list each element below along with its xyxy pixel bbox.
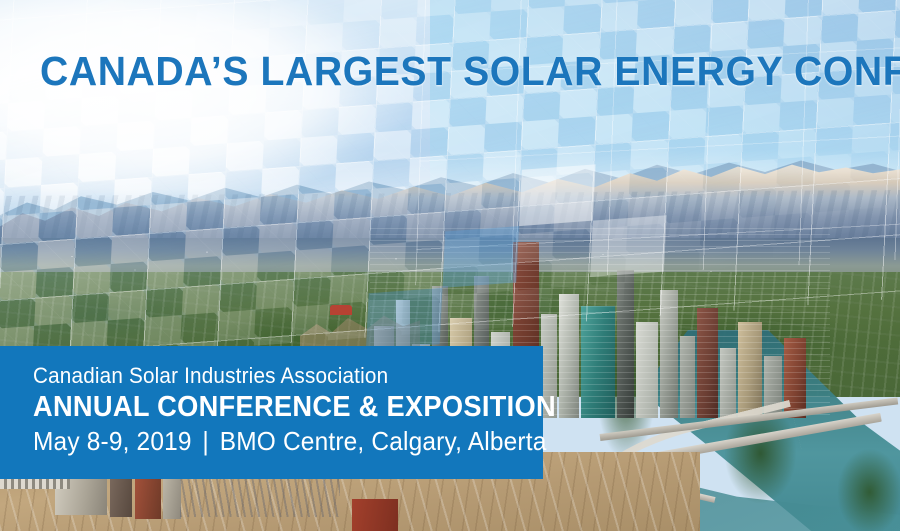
event-venue: BMO Centre, Calgary, Alberta bbox=[220, 426, 547, 456]
solar-panel-highlight-cell bbox=[590, 215, 667, 277]
page-title: CANADA’S LARGEST SOLAR ENERGY CONFERENCE bbox=[40, 48, 833, 94]
conference-banner: CANADA’S LARGEST SOLAR ENERGY CONFERENCE… bbox=[0, 0, 900, 531]
event-dates: May 8-9, 2019 bbox=[33, 426, 192, 456]
solar-panel-highlight-cell bbox=[366, 288, 443, 350]
event-details: May 8-9, 2019 | BMO Centre, Calgary, Alb… bbox=[33, 427, 546, 455]
detail-separator: | bbox=[199, 426, 213, 456]
headline-glow bbox=[0, 0, 580, 230]
solar-panel-highlight-cell bbox=[442, 226, 519, 288]
organization-name: Canadian Solar Industries Association bbox=[33, 364, 388, 388]
building-red-brick bbox=[352, 499, 398, 531]
event-info-box: Canadian Solar Industries Association AN… bbox=[0, 346, 543, 479]
event-title: ANNUAL CONFERENCE & EXPOSITION bbox=[33, 392, 556, 423]
building bbox=[163, 475, 181, 519]
